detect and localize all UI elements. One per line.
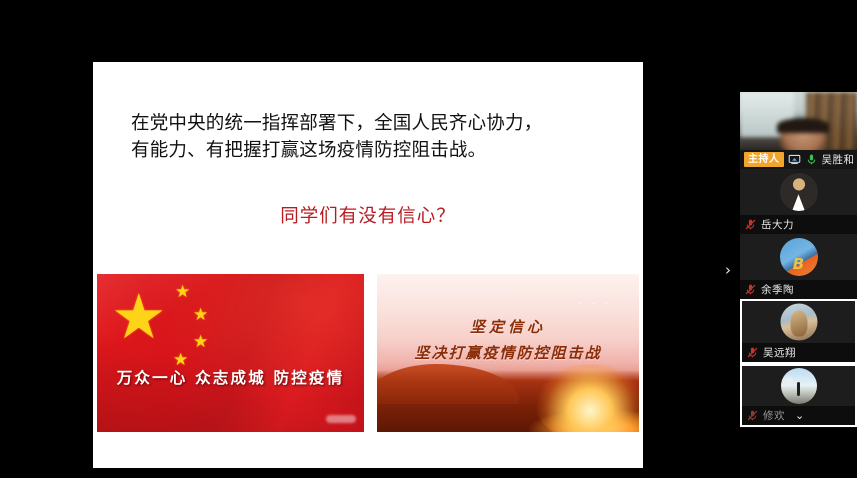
- host-camera-blur-layer: [740, 92, 857, 150]
- avatar-letter: B: [793, 255, 804, 276]
- slide-body-line-1: 在党中央的统一指挥部署下，全国人民齐心协力，: [131, 110, 615, 137]
- scroll-down-chevron-icon[interactable]: ⌄: [795, 409, 804, 422]
- participant-name-bar: 岳大力: [740, 215, 857, 234]
- slide-image-row: ★ ★ ★ ★ ★ 万众一心 众志成城 防控疫情 ᵕ ᵕ ᵕ 坚定信心 坚决打赢…: [97, 274, 639, 434]
- flag-big-star-icon: ★: [111, 286, 167, 348]
- slide-body-line-2: 有能力、有把握打赢这场疫情防控阻击战。: [131, 137, 615, 164]
- participant-name: 修欢: [763, 408, 785, 423]
- microphone-muted-icon[interactable]: [744, 283, 757, 296]
- screen-share-icon: [788, 153, 801, 166]
- shared-screen-area[interactable]: 在党中央的统一指挥部署下，全国人民齐心协力， 有能力、有把握打赢这场疫情防控阻击…: [0, 0, 740, 478]
- flag-small-star-3-icon: ★: [193, 334, 208, 351]
- participant-tile-4[interactable]: 吴远翔: [740, 299, 857, 364]
- host-name-bar: 主持人 吴胜和: [740, 150, 857, 169]
- avatar: [780, 304, 817, 341]
- participant-name-bar: 余季陶: [740, 280, 857, 299]
- flag-small-star-2-icon: ★: [193, 307, 208, 324]
- participant-name-bar: 修欢 ⌄: [742, 406, 855, 425]
- avatar: [780, 173, 818, 211]
- meeting-screen-share-window: 在党中央的统一指挥部署下，全国人民齐心协力， 有能力、有把握打赢这场疫情防控阻击…: [0, 0, 857, 478]
- presentation-slide: 在党中央的统一指挥部署下，全国人民齐心协力， 有能力、有把握打赢这场疫情防控阻击…: [93, 62, 643, 468]
- participant-avatar-area[interactable]: B: [740, 234, 857, 280]
- flag-caption-text: 万众一心 众志成城 防控疫情: [97, 366, 364, 388]
- sunrise-caption-line-2: 坚决打赢疫情防控阻击战: [377, 342, 639, 363]
- participant-tile-host[interactable]: 主持人 吴胜和: [740, 92, 857, 169]
- prc-flag-image: ★ ★ ★ ★ ★ 万众一心 众志成城 防控疫情: [97, 274, 364, 432]
- microphone-unmuted-icon[interactable]: [805, 153, 818, 166]
- participant-name-bar: 吴远翔: [742, 343, 855, 362]
- participant-video-panel[interactable]: 主持人 吴胜和: [740, 92, 857, 428]
- slide-body-text: 在党中央的统一指挥部署下，全国人民齐心协力， 有能力、有把握打赢这场疫情防控阻击…: [131, 110, 615, 164]
- host-camera-image: [740, 92, 857, 150]
- avatar: B: [780, 238, 818, 276]
- participant-tile-2[interactable]: 岳大力: [740, 169, 857, 234]
- slide-question-text: 同学们有没有信心？: [93, 202, 643, 228]
- microphone-muted-icon[interactable]: [746, 346, 759, 359]
- collapse-panel-chevron-right-icon[interactable]: ›: [718, 258, 738, 282]
- host-badge: 主持人: [744, 152, 784, 167]
- flag-watermark: [326, 415, 356, 423]
- birds-icon: ᵕ ᵕ ᵕ: [579, 300, 611, 310]
- microphone-muted-icon[interactable]: [746, 409, 759, 422]
- participant-tile-3[interactable]: B 余季陶: [740, 234, 857, 299]
- participant-avatar-area[interactable]: [742, 301, 855, 343]
- avatar: [781, 368, 817, 404]
- microphone-muted-icon[interactable]: [744, 218, 757, 231]
- sunrise-caption-line-1: 坚定信心: [377, 316, 639, 337]
- flag-small-star-1-icon: ★: [175, 284, 190, 301]
- host-hair: [777, 118, 828, 133]
- participant-avatar-area[interactable]: [740, 169, 857, 215]
- sunrise-image: ᵕ ᵕ ᵕ 坚定信心 坚决打赢疫情防控阻击战: [377, 274, 639, 432]
- participant-name: 吴胜和: [822, 152, 855, 167]
- participant-name: 岳大力: [761, 217, 794, 232]
- sun-glow-icon: [535, 364, 639, 432]
- participant-avatar-area[interactable]: [742, 366, 855, 406]
- participant-tile-5[interactable]: 修欢 ⌄: [740, 364, 857, 427]
- host-video-feed[interactable]: [740, 92, 857, 150]
- participant-name: 吴远翔: [763, 345, 796, 360]
- participant-name: 余季陶: [761, 282, 794, 297]
